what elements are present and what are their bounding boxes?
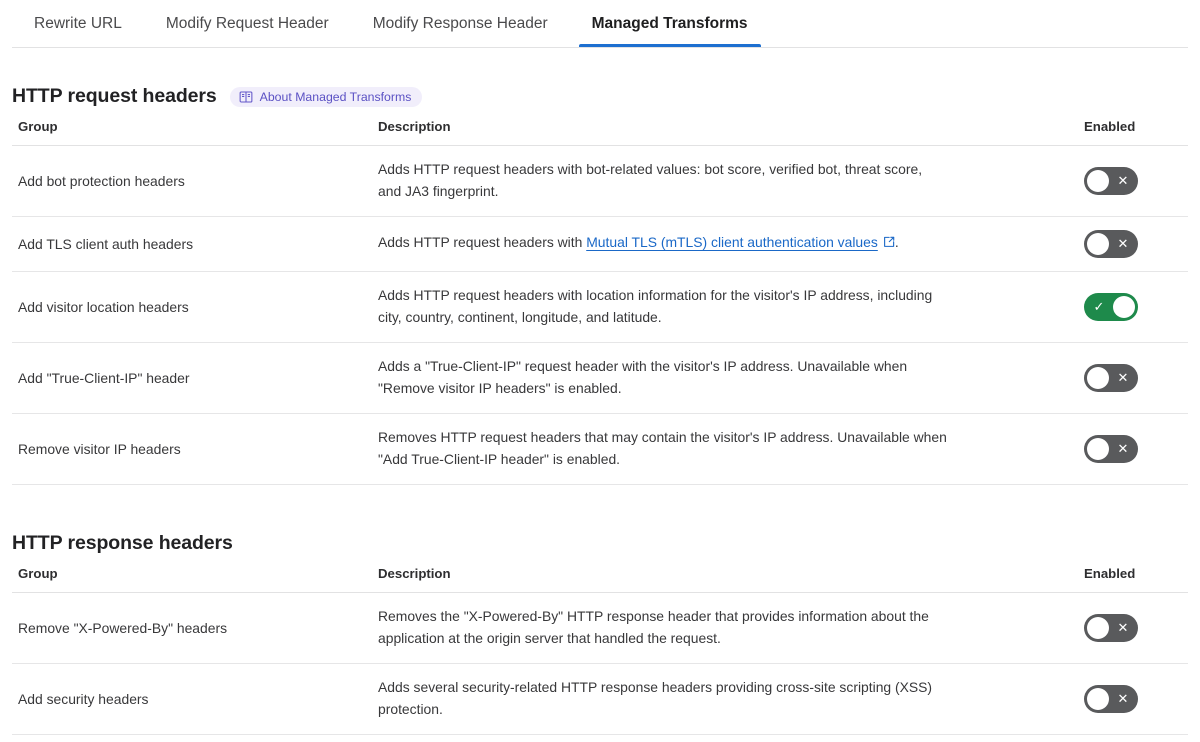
row-group-name: Remove visitor IP headers (12, 413, 373, 484)
tab-label: Managed Transforms (592, 15, 748, 33)
close-icon: ✕ (1110, 614, 1136, 642)
tab-label: Modify Request Header (166, 15, 329, 33)
column-header-enabled: Enabled (1073, 566, 1188, 593)
description-line: Adds HTTP request headers with location … (378, 285, 1037, 307)
description-line: "Remove visitor IP headers" is enabled. (378, 378, 1037, 400)
table-row: Add visitor location headers Adds HTTP r… (12, 271, 1188, 342)
tab-managed-transforms[interactable]: Managed Transforms (570, 0, 770, 47)
row-enabled-cell: ✓ (1073, 271, 1188, 342)
about-managed-transforms-badge[interactable]: About Managed Transforms (230, 87, 423, 107)
toggle-add-security-headers[interactable]: ✕ (1084, 685, 1138, 713)
row-group-name: Remove "X-Powered-By" headers (12, 592, 373, 663)
table-row: Add TLS client auth headers Adds HTTP re… (12, 216, 1188, 271)
description-line: Adds a "True-Client-IP" request header w… (378, 356, 1037, 378)
request-headers-section-header: HTTP request headers About Managed Trans… (12, 48, 1188, 119)
book-icon (239, 90, 253, 104)
table-header-row: Group Description Enabled (12, 119, 1188, 146)
toggle-remove-x-powered-by-headers[interactable]: ✕ (1084, 614, 1138, 642)
table-row: Add bot protection headers Adds HTTP req… (12, 146, 1188, 217)
description-line: Adds several security-related HTTP respo… (378, 677, 1037, 699)
close-icon: ✕ (1110, 435, 1136, 463)
tab-rewrite-url[interactable]: Rewrite URL (12, 0, 144, 47)
row-group-name: Add bot protection headers (12, 146, 373, 217)
request-headers-table: Group Description Enabled Add bot protec… (12, 119, 1188, 485)
row-enabled-cell: ✕ (1073, 663, 1188, 734)
response-headers-section-header: HTTP response headers (12, 485, 1188, 566)
row-group-name: Add "True-Client-IP" header (12, 342, 373, 413)
description-line: and JA3 fingerprint. (378, 181, 1037, 203)
row-enabled-cell: ✕ (1073, 342, 1188, 413)
column-header-enabled: Enabled (1073, 119, 1188, 146)
toggle-add-tls-client-auth-headers[interactable]: ✕ (1084, 230, 1138, 258)
column-header-group: Group (12, 119, 373, 146)
page-title: HTTP request headers (12, 85, 217, 108)
row-group-name: Add visitor location headers (12, 271, 373, 342)
row-enabled-cell: ✕ (1073, 413, 1188, 484)
transform-rules-tabbar: Rewrite URL Modify Request Header Modify… (0, 0, 1200, 48)
row-group-name: Add TLS client auth headers (12, 216, 373, 271)
row-enabled-cell: ✕ (1073, 216, 1188, 271)
response-section-title: HTTP response headers (12, 532, 233, 555)
toggle-add-bot-protection-headers[interactable]: ✕ (1084, 167, 1138, 195)
row-description: Removes HTTP request headers that may co… (373, 413, 1073, 484)
close-icon: ✕ (1110, 230, 1136, 258)
tab-modify-response-header[interactable]: Modify Response Header (351, 0, 570, 47)
description-line: application at the origin server that ha… (378, 628, 1037, 650)
column-header-group: Group (12, 566, 373, 593)
external-link-icon (883, 233, 895, 255)
toggle-knob (1087, 438, 1109, 460)
description-line: Adds HTTP request headers with bot-relat… (378, 159, 1037, 181)
row-enabled-cell: ✕ (1073, 146, 1188, 217)
row-description: Adds a "True-Client-IP" request header w… (373, 342, 1073, 413)
row-description: Adds HTTP request headers with Mutual TL… (373, 216, 1073, 271)
close-icon: ✕ (1110, 167, 1136, 195)
check-icon: ✓ (1086, 293, 1112, 321)
close-icon: ✕ (1110, 364, 1136, 392)
page-content: HTTP request headers About Managed Trans… (0, 48, 1200, 735)
description-line: Removes the "X-Powered-By" HTTP response… (378, 606, 1037, 628)
column-header-description: Description (373, 119, 1073, 146)
mtls-docs-link[interactable]: Mutual TLS (mTLS) client authentication … (586, 234, 878, 250)
toggle-add-true-client-ip-header[interactable]: ✕ (1084, 364, 1138, 392)
toggle-knob (1087, 170, 1109, 192)
row-description: Adds several security-related HTTP respo… (373, 663, 1073, 734)
table-row: Remove "X-Powered-By" headers Removes th… (12, 592, 1188, 663)
row-description: Adds HTTP request headers with bot-relat… (373, 146, 1073, 217)
toggle-knob (1113, 296, 1135, 318)
table-row: Add "True-Client-IP" header Adds a "True… (12, 342, 1188, 413)
toggle-knob (1087, 688, 1109, 710)
toggle-add-visitor-location-headers[interactable]: ✓ (1084, 293, 1138, 321)
description-line: Removes HTTP request headers that may co… (378, 427, 1037, 449)
row-enabled-cell: ✕ (1073, 592, 1188, 663)
table-row: Remove visitor IP headers Removes HTTP r… (12, 413, 1188, 484)
toggle-knob (1087, 367, 1109, 389)
row-group-name: Add security headers (12, 663, 373, 734)
table-row: Add security headers Adds several securi… (12, 663, 1188, 734)
description-line: city, country, continent, longitude, and… (378, 307, 1037, 329)
tab-label: Rewrite URL (34, 15, 122, 33)
table-header-row: Group Description Enabled (12, 566, 1188, 593)
toggle-knob (1087, 617, 1109, 639)
row-description: Adds HTTP request headers with location … (373, 271, 1073, 342)
toggle-knob (1087, 233, 1109, 255)
tab-label: Modify Response Header (373, 15, 548, 33)
description-prefix: Adds HTTP request headers with (378, 234, 586, 250)
description-suffix: . (895, 234, 899, 250)
description-line: protection. (378, 699, 1037, 721)
description-line: "Add True-Client-IP header" is enabled. (378, 449, 1037, 471)
row-description: Removes the "X-Powered-By" HTTP response… (373, 592, 1073, 663)
about-managed-transforms-label: About Managed Transforms (260, 90, 412, 104)
toggle-remove-visitor-ip-headers[interactable]: ✕ (1084, 435, 1138, 463)
column-header-description: Description (373, 566, 1073, 593)
tab-modify-request-header[interactable]: Modify Request Header (144, 0, 351, 47)
response-headers-table: Group Description Enabled Remove "X-Powe… (12, 566, 1188, 735)
close-icon: ✕ (1110, 685, 1136, 713)
